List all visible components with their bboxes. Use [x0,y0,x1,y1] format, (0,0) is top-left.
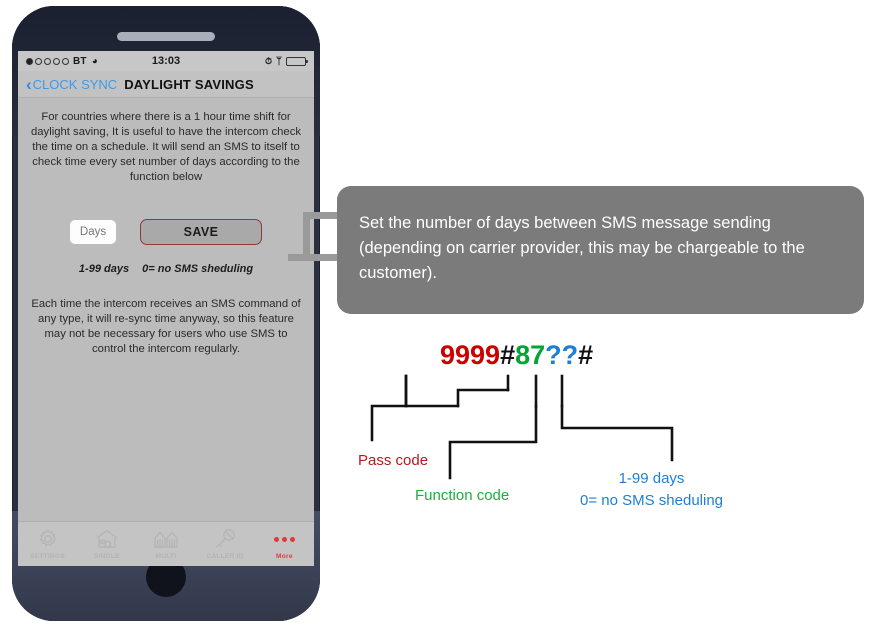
earpiece-speaker [117,32,215,41]
gear-icon [36,526,60,552]
alarm-clock-icon: ⏱ [265,56,272,67]
tab-single[interactable]: SINGLE [77,526,136,560]
range-note-left: 1-99 days [79,263,129,275]
range-note: 1-99 days 0= no SMS sheduling [18,263,314,275]
intro-paragraph: For countries where there is a 1 hour ti… [18,110,314,185]
buildings-icon [152,526,180,552]
tab-settings-label: SETTINGS [30,553,65,560]
house-icon [94,526,120,552]
sms-code-diagram: 9999#87??# Pass code Function code 1-99 … [340,330,860,510]
tab-single-label: SINGLE [94,553,120,560]
tab-bar: SETTINGS SINGLE [18,521,314,566]
tab-caller-id-label: CALLER ID [207,553,244,560]
days-input[interactable] [70,220,116,244]
tab-more-label: More [276,553,293,560]
code-segment-function-code: 87 [515,340,545,370]
controls-row: SAVE [18,219,314,245]
key-blocked-icon [212,526,238,552]
sms-code-string: 9999#87??# [440,340,593,371]
callout-text: Set the number of days between SMS messa… [337,186,864,286]
chevron-left-icon[interactable]: ‹ [26,76,32,93]
status-bar: BT ◕ 13:03 ⏱ ᛘ [18,51,314,71]
tab-caller-id[interactable]: CALLER ID [196,526,255,560]
code-segment-pass-code: 9999 [440,340,500,370]
status-right-group: ⏱ ᛘ [265,56,306,67]
screen-content: For countries where there is a 1 hour ti… [18,98,314,566]
label-function-code: Function code [415,487,509,504]
label-days-line1: 1-99 days [580,468,723,490]
secondary-paragraph: Each time the intercom receives an SMS c… [18,297,314,357]
nav-bar: ‹ CLOCK SYNC DAYLIGHT SAVINGS [18,71,314,98]
tab-settings[interactable]: SETTINGS [18,526,77,560]
save-button[interactable]: SAVE [140,219,262,245]
page-title: DAYLIGHT SAVINGS [124,77,254,92]
code-segment-hash-1: # [500,340,515,370]
battery-icon [286,57,306,66]
wifi-icon: ◕ [92,56,98,67]
tab-multi-label: MULTI [156,553,177,560]
signal-strength-icon [26,58,69,65]
range-note-right: 0= no SMS sheduling [142,263,253,275]
callout-tail-vertical [303,212,310,260]
phone-mockup: BT ◕ 13:03 ⏱ ᛘ ‹ CLOCK SYNC DAYLIGHT SAV… [12,6,320,621]
phone-screen: BT ◕ 13:03 ⏱ ᛘ ‹ CLOCK SYNC DAYLIGHT SAV… [18,51,314,566]
label-days-line2: 0= no SMS sheduling [580,490,723,512]
code-segment-hash-2: # [578,340,593,370]
label-days-range: 1-99 days 0= no SMS sheduling [580,468,723,512]
label-pass-code: Pass code [358,452,428,469]
callout-tail-horizontal-upper [303,212,341,219]
carrier-label: BT [73,56,87,67]
tab-multi[interactable]: MULTI [136,526,195,560]
bluetooth-icon: ᛘ [276,56,282,67]
code-segment-days-placeholder: ?? [545,340,578,370]
ellipsis-icon [274,526,295,552]
status-clock: 13:03 [152,55,180,67]
callout-tail-horizontal [288,254,340,261]
back-button-label[interactable]: CLOCK SYNC [33,77,118,92]
callout-box: Set the number of days between SMS messa… [337,186,864,314]
tab-more[interactable]: More [255,526,314,560]
